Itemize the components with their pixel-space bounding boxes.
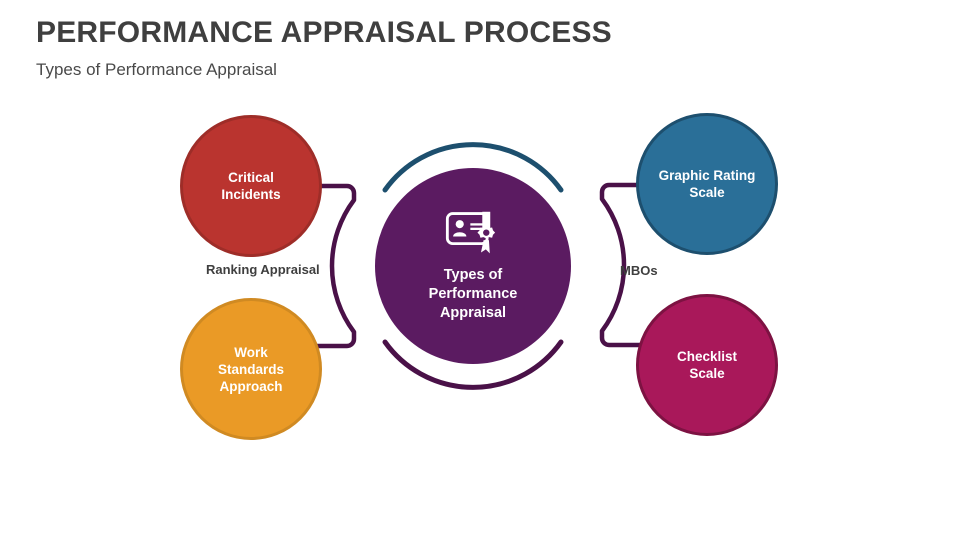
node-label: Graphic Rating Scale [649,167,766,201]
node-critical-incidents[interactable]: Critical Incidents [180,115,322,257]
connector-left-bracket [316,186,354,346]
node-graphic-rating[interactable]: Graphic Rating Scale [636,113,778,255]
caption-mbos: MBOs [620,263,658,278]
caption-ranking-appraisal: Ranking Appraisal [206,262,320,277]
node-label: Work Standards Approach [208,344,294,395]
node-label: Critical Incidents [211,169,290,203]
node-checklist-scale[interactable]: Checklist Scale [636,294,778,436]
center-hub-node[interactable]: Types of Performance Appraisal [375,168,571,364]
certificate-award-icon [444,210,502,256]
node-label: Checklist Scale [667,348,747,382]
center-hub-label: Types of Performance Appraisal [429,266,518,323]
node-work-standards[interactable]: Work Standards Approach [180,298,322,440]
appraisal-types-diagram: Types of Performance Appraisal Critical … [0,0,960,540]
slide-canvas: PERFORMANCE APPRAISAL PROCESS Types of P… [0,0,960,540]
